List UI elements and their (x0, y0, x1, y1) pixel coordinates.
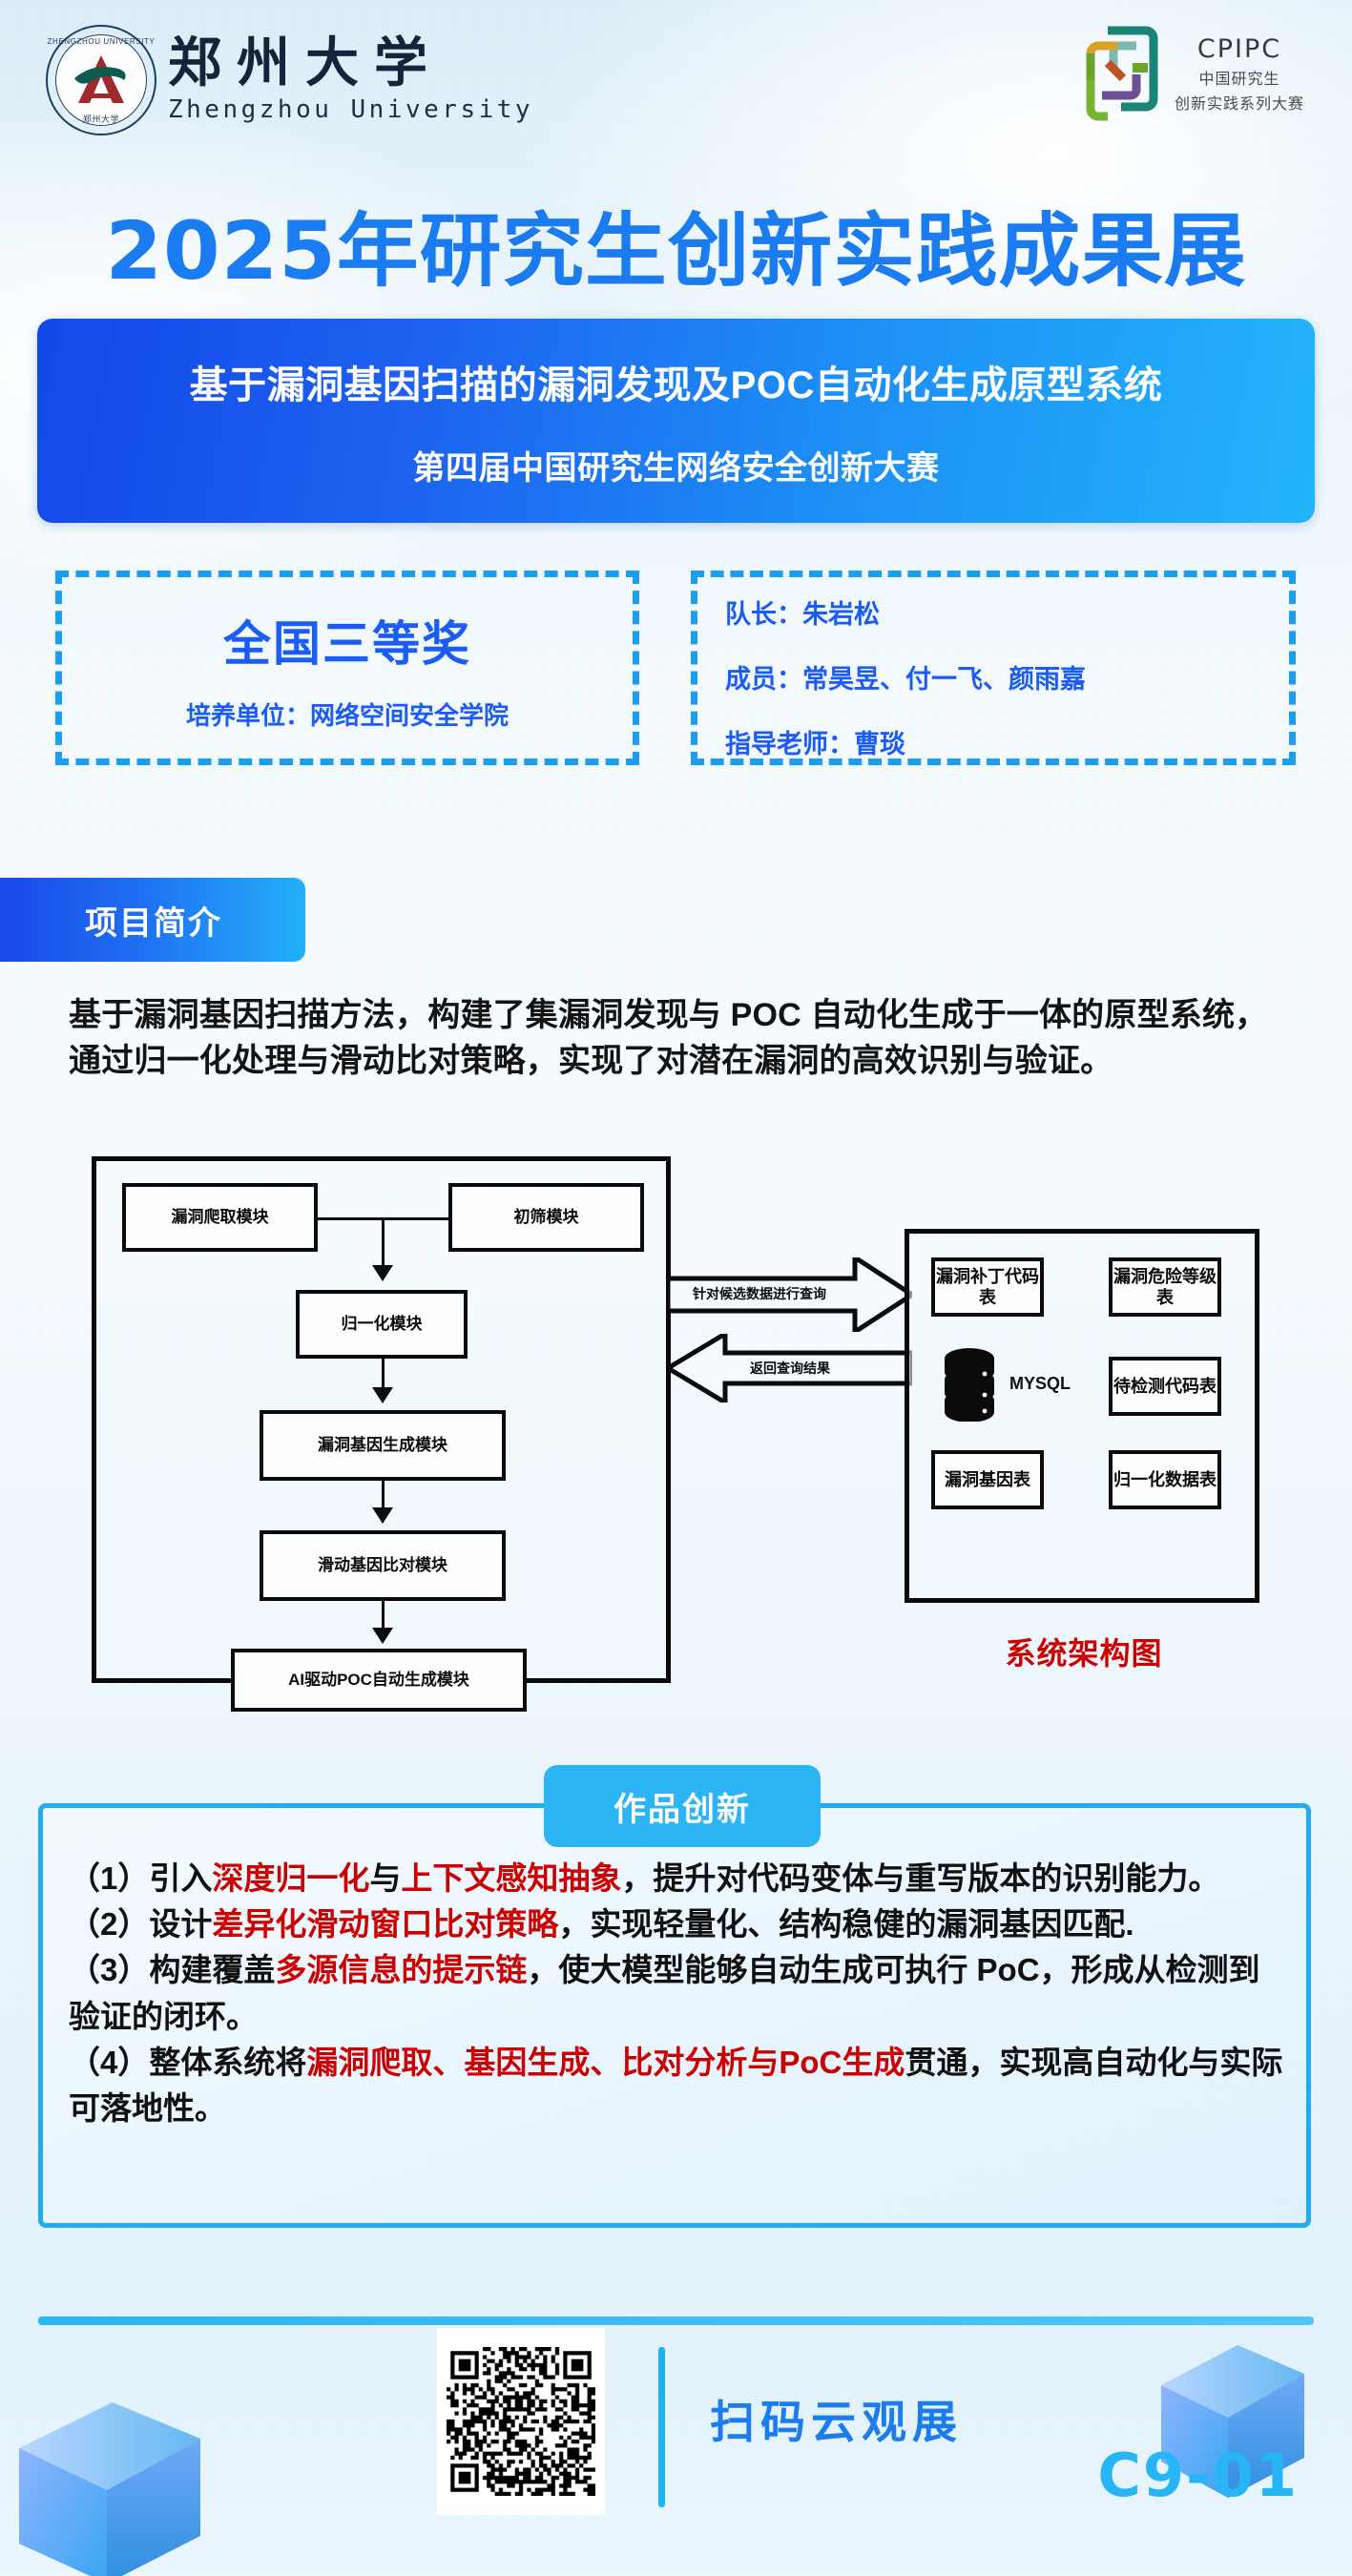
architecture-diagram: 漏洞爬取模块 初筛模块 归一化模块 漏洞基因生成模块 滑动基因比对模块 AI驱动… (0, 1145, 1352, 1755)
poster-footer: 扫码云观展 C9-01 (0, 2271, 1352, 2576)
scan-prompt: 扫码云观展 (710, 2385, 963, 2451)
innovation-item: （3）构建覆盖多源信息的提示链，使大模型能够自动生成可执行 PoC，形成从检测到… (69, 1947, 1290, 2039)
arrow-head-poc (372, 1628, 393, 1644)
innovation-keyword: 上下文感知抽象 (401, 1860, 621, 1896)
team-advisor: 指导老师：曹琰 (725, 723, 905, 760)
innovation-keyword: 差异化滑动窗口比对策略 (212, 1906, 558, 1942)
cpipc-mark-icon (1079, 21, 1165, 126)
section-tab-innovation: 作品创新 (544, 1765, 821, 1847)
footer-divider (38, 2316, 1314, 2325)
decorative-cube-left (19, 2402, 239, 2576)
university-logo: ZHENGZHOU UNIVERSITY 郑州大学 郑州大学 Zhengzhou… (46, 25, 533, 135)
innovation-keyword: 漏洞爬取、基因生成、比对分析与PoC生成 (306, 2045, 905, 2080)
db-table-vuln-gene: 漏洞基因表 (931, 1450, 1044, 1509)
node-prescreen: 初筛模块 (448, 1183, 644, 1252)
section-tab-intro: 项目简介 (0, 878, 305, 962)
innovation-text: （4）整体系统将 (69, 2045, 306, 2080)
node-vuln-crawl: 漏洞爬取模块 (122, 1183, 318, 1252)
cpipc-abbreviation: CPIPC (1197, 34, 1281, 64)
db-table-risk-level: 漏洞危险等级表 (1109, 1257, 1221, 1317)
team-leader: 队长：朱岩松 (725, 593, 880, 631)
cpipc-line2: 创新实践系列大赛 (1175, 91, 1304, 114)
award-title: 全国三等奖 (55, 606, 639, 675)
zzu-seal-icon: ZHENGZHOU UNIVERSITY 郑州大学 (46, 25, 156, 135)
arrow-head-normalize (372, 1265, 393, 1281)
arrow-label-query: 针对候选数据进行查询 (693, 1284, 826, 1303)
db-table-normalized: 归一化数据表 (1109, 1450, 1221, 1509)
db-table-target-code: 待检测代码表 (1109, 1357, 1221, 1416)
intro-paragraph: 基于漏洞基因扫描方法，构建了集漏洞发现与 POC 自动化生成于一体的原型系统，通… (69, 992, 1300, 1085)
cpipc-logo: CPIPC 中国研究生 创新实践系列大赛 (1079, 21, 1304, 126)
project-title: 基于漏洞基因扫描的漏洞发现及POC自动化生成原型系统 (190, 354, 1163, 409)
qr-code-canvas (447, 2347, 595, 2496)
poster-main-title: 2025年研究生创新实践成果展 (0, 187, 1352, 302)
innovation-text: （2）设计 (69, 1906, 212, 1942)
db-table-patch-code: 漏洞补丁代码表 (931, 1257, 1044, 1317)
qr-code[interactable] (437, 2328, 605, 2515)
arrow-head-compare (372, 1507, 393, 1524)
innovation-text: （3）构建覆盖 (69, 1952, 275, 1987)
mysql-label: MYSQL (1009, 1374, 1071, 1394)
team-members: 成员：常昊昱、付一飞、颜雨嘉 (725, 658, 1086, 696)
innovation-text: ，实现轻量化、结构稳健的漏洞基因匹配. (558, 1906, 1134, 1942)
innovation-list: （1）引入深度归一化与上下文感知抽象，提升对代码变体与重写版本的识别能力。（2）… (69, 1856, 1290, 2131)
innovation-keyword: 多源信息的提示链 (275, 1952, 527, 1987)
architecture-caption: 系统架构图 (906, 1630, 1261, 1673)
node-ai-poc: AI驱动POC自动生成模块 (231, 1649, 527, 1712)
cpipc-line1: 中国研究生 (1198, 66, 1279, 89)
poster-root: ZHENGZHOU UNIVERSITY 郑州大学 郑州大学 Zhengzhou… (0, 0, 1352, 2576)
arrow-head-gene (372, 1387, 393, 1403)
booth-code: C9-01 (1097, 2441, 1299, 2510)
node-gene-generate: 漏洞基因生成模块 (260, 1410, 506, 1481)
section-tab-intro-label: 项目简介 (73, 897, 222, 944)
poster-header: ZHENGZHOU UNIVERSITY 郑州大学 郑州大学 Zhengzhou… (0, 0, 1352, 174)
flow-line-to-normalize (382, 1217, 385, 1269)
innovation-item: （2）设计差异化滑动窗口比对策略，实现轻量化、结构稳健的漏洞基因匹配. (69, 1901, 1290, 1947)
university-name-cn: 郑州大学 (168, 36, 533, 90)
arrow-label-result: 返回查询结果 (750, 1359, 830, 1378)
innovation-text: ，提升对代码变体与重写版本的识别能力。 (621, 1860, 1219, 1896)
seal-text-top: ZHENGZHOU UNIVERSITY (46, 37, 156, 46)
mysql-cylinder-icon (943, 1347, 996, 1426)
footer-vertical-rule (658, 2347, 665, 2507)
node-slide-compare: 滑动基因比对模块 (260, 1530, 506, 1601)
section-tab-innovation-label: 作品创新 (614, 1783, 751, 1830)
innovation-text: 与 (369, 1860, 401, 1896)
innovation-keyword: 深度归一化 (212, 1860, 369, 1896)
innovation-text: （1）引入 (69, 1860, 212, 1896)
innovation-item: （1）引入深度归一化与上下文感知抽象，提升对代码变体与重写版本的识别能力。 (69, 1856, 1290, 1901)
innovation-item: （4）整体系统将漏洞爬取、基因生成、比对分析与PoC生成贯通，实现高自动化与实际… (69, 2040, 1290, 2131)
award-unit: 培养单位：网络空间安全学院 (55, 696, 639, 732)
subtitle-panel: 基于漏洞基因扫描的漏洞发现及POC自动化生成原型系统 第四届中国研究生网络安全创… (37, 319, 1315, 523)
competition-name: 第四届中国研究生网络安全创新大赛 (413, 442, 940, 488)
node-normalize: 归一化模块 (296, 1290, 468, 1359)
university-name-en: Zhengzhou University (168, 95, 533, 124)
